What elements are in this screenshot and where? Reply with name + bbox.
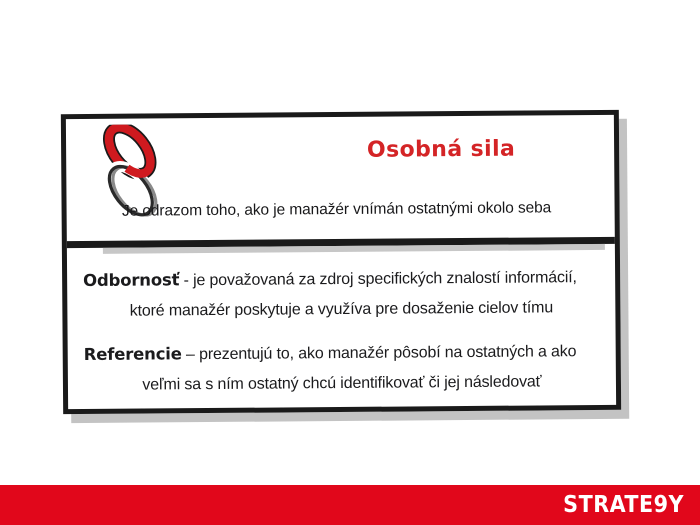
paragraph-line-2: veľmi sa s ním ostatný chcú identifikova… xyxy=(84,367,600,401)
card-subtitle: Je odrazom toho, ako je manažér vnímán o… xyxy=(67,199,607,221)
paragraph-separator: - xyxy=(179,272,193,289)
paragraph-lead-term: Referencie xyxy=(84,344,182,364)
card-header: Osobná sila Je odrazom toho, ako je mana… xyxy=(66,115,615,241)
card-body: Odbornosť - je považovaná za zdroj speci… xyxy=(67,244,616,409)
paragraph-separator: – xyxy=(182,346,199,363)
page-title: Osobná sila xyxy=(291,136,591,163)
paragraph-line-2: ktoré manažér poskytuje a využíva pre do… xyxy=(83,293,599,327)
paragraph-line-1: prezentujú to, ako manažér pôsobí na ost… xyxy=(199,343,576,363)
brand-logo: STRATE9Y xyxy=(563,492,684,518)
content-card: Osobná sila Je odrazom toho, ako je mana… xyxy=(61,110,621,414)
paragraph-referencie: Referencie – prezentujú to, ako manažér … xyxy=(84,336,600,401)
paragraph-line-1: je považovaná za zdroj specifických znal… xyxy=(193,269,577,289)
paragraph-odbornost: Odbornosť - je považovaná za zdroj speci… xyxy=(83,262,599,327)
footer-band: STRATE9Y xyxy=(0,485,700,525)
slide-canvas: Osobná sila Je odrazom toho, ako je mana… xyxy=(0,0,700,525)
paragraph-lead-term: Odbornosť xyxy=(83,270,179,290)
card-frame: Osobná sila Je odrazom toho, ako je mana… xyxy=(61,110,621,414)
